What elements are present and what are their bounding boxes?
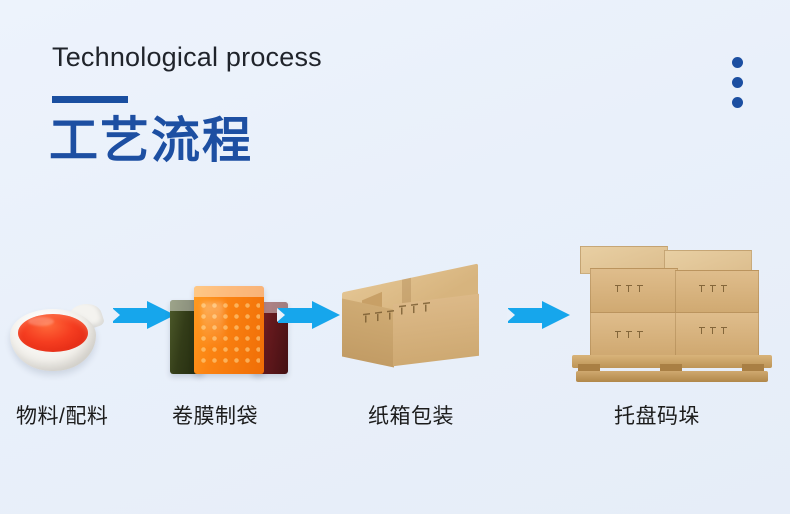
step-caption-pallet-stacking: 托盘码垛 — [614, 400, 700, 430]
process-step-carton-packing — [340, 225, 490, 390]
step-caption-carton-packing: 纸箱包装 — [368, 400, 454, 430]
palletized-boxes-image — [572, 242, 772, 382]
page-title: 工艺流程 — [49, 112, 253, 172]
menu-dot-2 — [732, 77, 743, 88]
menu-dot-1 — [732, 57, 743, 68]
flow-arrow-1-icon — [113, 301, 175, 329]
process-step-material — [8, 225, 108, 390]
process-flow-row — [0, 225, 790, 390]
page-subtitle-english: Technological process — [52, 42, 322, 73]
flow-arrow-2-icon — [278, 301, 340, 329]
process-step-pallet-stacking — [572, 225, 777, 390]
step-caption-film-bagging: 卷膜制袋 — [172, 400, 258, 430]
sauce-bowl-image — [8, 302, 104, 374]
title-underline-rule — [52, 96, 128, 103]
kebab-menu-icon[interactable] — [732, 57, 743, 108]
flow-arrow-3-icon — [508, 301, 570, 329]
sachet-packets-image — [170, 282, 288, 374]
process-banner: Technological process 工艺流程 — [0, 0, 790, 514]
process-step-film-bagging — [170, 225, 290, 390]
step-caption-material: 物料/配料 — [16, 400, 108, 430]
menu-dot-3 — [732, 97, 743, 108]
carton-box-image — [340, 278, 488, 374]
